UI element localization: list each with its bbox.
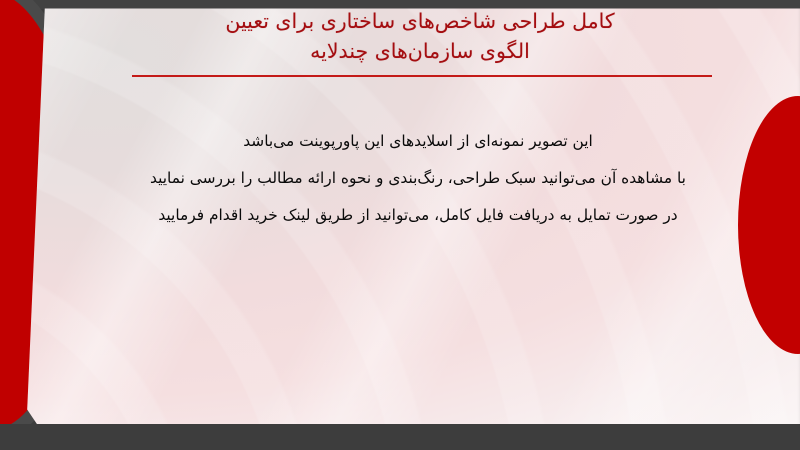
- slide-title-line-1: کامل طراحی شاخص‌های ساختاری برای تعیین: [100, 6, 740, 36]
- presentation-slide: کامل طراحی شاخص‌های ساختاری برای تعیین ا…: [0, 0, 800, 450]
- slide-title-line-2: الگوی سازمان‌های چندلایه: [100, 36, 740, 66]
- title-underline: [132, 75, 712, 77]
- body-line-2: با مشاهده آن می‌توانید سبک طراحی، رنگ‌بن…: [68, 160, 768, 197]
- slide-bottom-band: [0, 424, 800, 450]
- slide-title: کامل طراحی شاخص‌های ساختاری برای تعیین ا…: [100, 6, 740, 66]
- body-line-3: در صورت تمایل به دریافت فایل کامل، می‌تو…: [68, 197, 768, 234]
- slide-body-text: این تصویر نمونه‌ای از اسلایدهای این پاور…: [68, 123, 768, 234]
- body-line-1: این تصویر نمونه‌ای از اسلایدهای این پاور…: [68, 123, 768, 160]
